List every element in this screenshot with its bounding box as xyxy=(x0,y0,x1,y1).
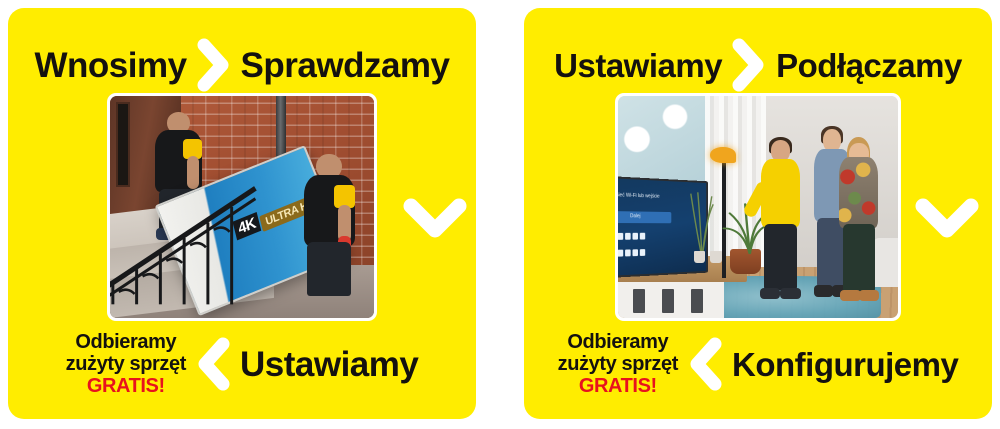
technician-trousers xyxy=(764,224,796,289)
door-glass xyxy=(118,104,128,185)
delivery-heading-row: Wnosimy Sprawdzamy xyxy=(8,34,476,96)
installation-photo-frame: Sieć Wi-Fi lub wejście Dalej xyxy=(615,93,901,321)
recycle-line-2: zużyty sprzęt xyxy=(66,353,186,375)
step-label-ustawiamy: Ustawiamy xyxy=(240,347,418,382)
step-label-ustawiamy: Ustawiamy xyxy=(554,49,722,82)
female-customer-trousers xyxy=(843,224,875,291)
service-steps-infographic: Wnosimy Sprawdzamy xyxy=(0,0,1000,429)
female-customer-floral-blouse xyxy=(839,157,878,227)
female-customer-shoe xyxy=(840,290,861,301)
floor-lamp-shade xyxy=(710,147,735,163)
installation-photo: Sieć Wi-Fi lub wejście Dalej xyxy=(618,96,898,318)
chevron-left-icon xyxy=(194,335,232,393)
cabinet-compartment xyxy=(691,289,703,313)
stair-railing xyxy=(110,180,258,304)
delivery-panel: Wnosimy Sprawdzamy xyxy=(8,8,476,419)
step-label-sprawdzamy: Sprawdzamy xyxy=(241,48,450,83)
female-customer-shoe xyxy=(859,290,880,301)
recycling-note: Odbieramy zużyty sprzęt GRATIS! xyxy=(66,331,186,397)
cabinet-compartment xyxy=(662,289,674,313)
worker-lower xyxy=(300,154,358,296)
recycle-line-1: Odbieramy xyxy=(75,331,176,353)
delivery-photo: 4K ULTRA HD xyxy=(110,96,374,318)
tall-grass-plant xyxy=(688,191,716,258)
male-customer-shoe xyxy=(814,285,833,296)
tv-setup-chips-row-2 xyxy=(618,249,645,257)
chevron-right-icon xyxy=(732,37,766,93)
recycle-free-badge: GRATIS! xyxy=(66,375,186,397)
installation-panel: Ustawiamy Podłączamy xyxy=(524,8,992,419)
step-label-konfigurujemy: Konfigurujemy xyxy=(732,348,958,381)
installation-footer-row: Odbieramy zużyty sprzęt GRATIS! Konfigur… xyxy=(524,321,992,407)
step-label-wnosimy: Wnosimy xyxy=(34,48,186,83)
recycling-note: Odbieramy zużyty sprzęt GRATIS! xyxy=(558,331,678,397)
tv-setup-button-label: Dalej xyxy=(630,213,640,220)
recycle-line-1: Odbieramy xyxy=(567,331,668,353)
tv-cabinet xyxy=(618,277,724,318)
installation-heading-row: Ustawiamy Podłączamy xyxy=(524,34,992,96)
chevron-down-icon xyxy=(914,194,980,242)
delivery-photo-frame: 4K ULTRA HD xyxy=(107,93,377,321)
worker-trousers xyxy=(307,242,351,296)
technician-shoe xyxy=(780,288,801,299)
small-pot xyxy=(694,251,705,262)
tv-setup-heading: Sieć Wi-Fi lub wejście xyxy=(618,192,659,200)
tv-setup-chips-row-1 xyxy=(618,232,645,239)
tv-setup-button xyxy=(618,211,671,223)
recycle-free-badge: GRATIS! xyxy=(558,375,678,397)
chevron-down-icon xyxy=(402,194,468,242)
chevron-left-icon xyxy=(686,335,724,393)
technician-shoe xyxy=(760,288,781,299)
chevron-right-icon xyxy=(197,37,231,93)
recycle-line-2: zużyty sprzęt xyxy=(558,353,678,375)
step-label-podlaczamy: Podłączamy xyxy=(776,49,962,82)
cabinet-compartment xyxy=(633,289,645,313)
delivery-footer-row: Odbieramy zużyty sprzęt GRATIS! Ustawiam… xyxy=(8,321,476,407)
technician-figure xyxy=(758,140,803,295)
female-customer-figure xyxy=(836,138,881,298)
